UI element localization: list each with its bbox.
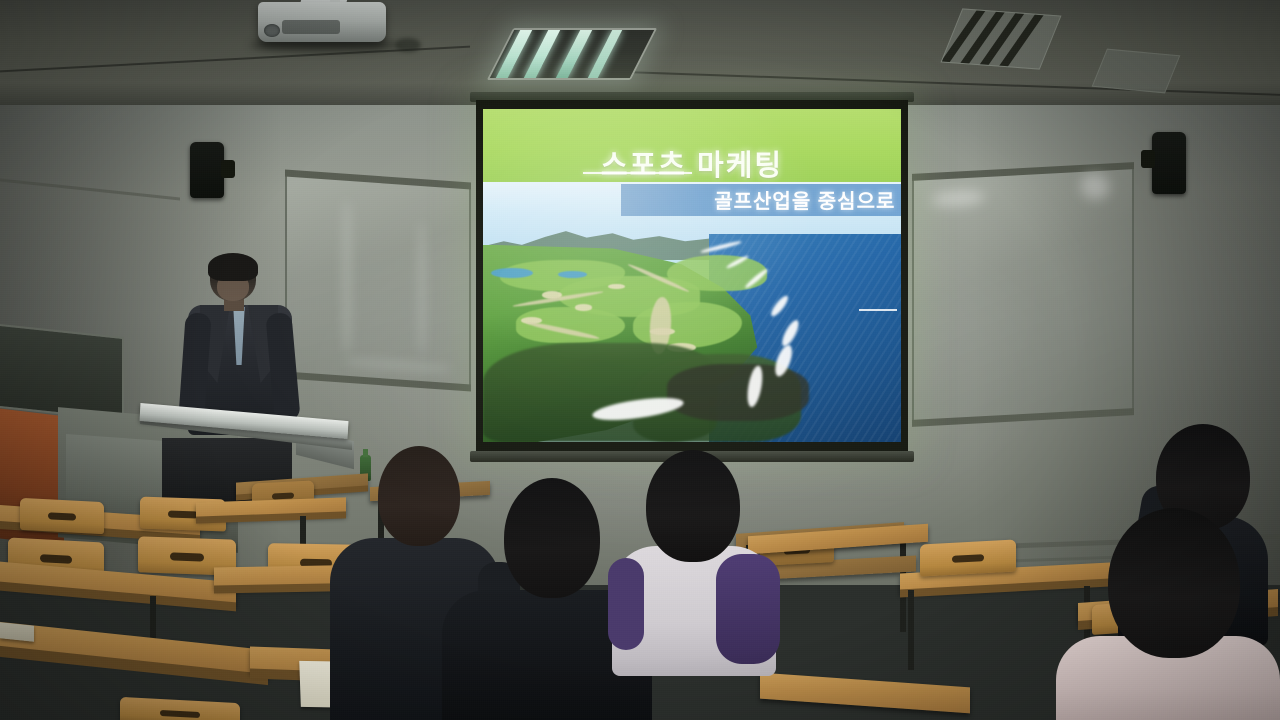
projector-icon — [258, 2, 386, 42]
lecture-hall-photo: 스포츠 마케팅 — [0, 0, 1280, 720]
projector-body — [282, 20, 340, 34]
student-head — [504, 478, 600, 598]
projection-screen: 스포츠 마케팅 — [476, 100, 908, 452]
presenter-hair — [208, 253, 258, 281]
chair-back — [120, 697, 240, 720]
projector-lens-icon — [264, 24, 280, 37]
whiteboard-right — [912, 164, 1134, 424]
light-tube — [556, 30, 592, 78]
fluorescent-light-icon — [487, 28, 657, 80]
light-tube — [524, 30, 560, 78]
paper-sheet — [0, 622, 34, 642]
student-raglan — [612, 450, 776, 650]
speaker-left-icon — [190, 142, 224, 198]
student-head — [1108, 508, 1240, 658]
chair-back — [920, 539, 1016, 576]
speaker-bracket — [221, 160, 235, 178]
air-vent-icon — [1092, 49, 1181, 94]
student-front-right — [1056, 508, 1280, 720]
slide-subtitle: 골프산업을 중심으로 — [621, 184, 895, 216]
student-sleeve — [608, 558, 644, 650]
ceiling-mark — [395, 38, 421, 52]
desk-top — [760, 673, 970, 714]
chair-back — [20, 498, 104, 534]
slide-title-underline — [583, 172, 692, 174]
student-head — [646, 450, 740, 562]
whiteboard-left — [285, 171, 471, 388]
light-tube — [588, 30, 622, 78]
slide-subtitle-band: 골프산업을 중심으로 — [621, 184, 901, 216]
slide-title: 스포츠 마케팅 — [483, 142, 901, 184]
speaker-bracket — [1141, 150, 1155, 168]
speaker-right-icon — [1152, 132, 1186, 194]
student-sleeve — [716, 554, 780, 664]
air-vent-icon — [941, 8, 1062, 69]
projected-slide: 스포츠 마케팅 — [483, 109, 901, 442]
blackboard — [0, 323, 124, 421]
slide-photo — [483, 182, 901, 442]
slide-subtitle-underline — [859, 309, 897, 311]
